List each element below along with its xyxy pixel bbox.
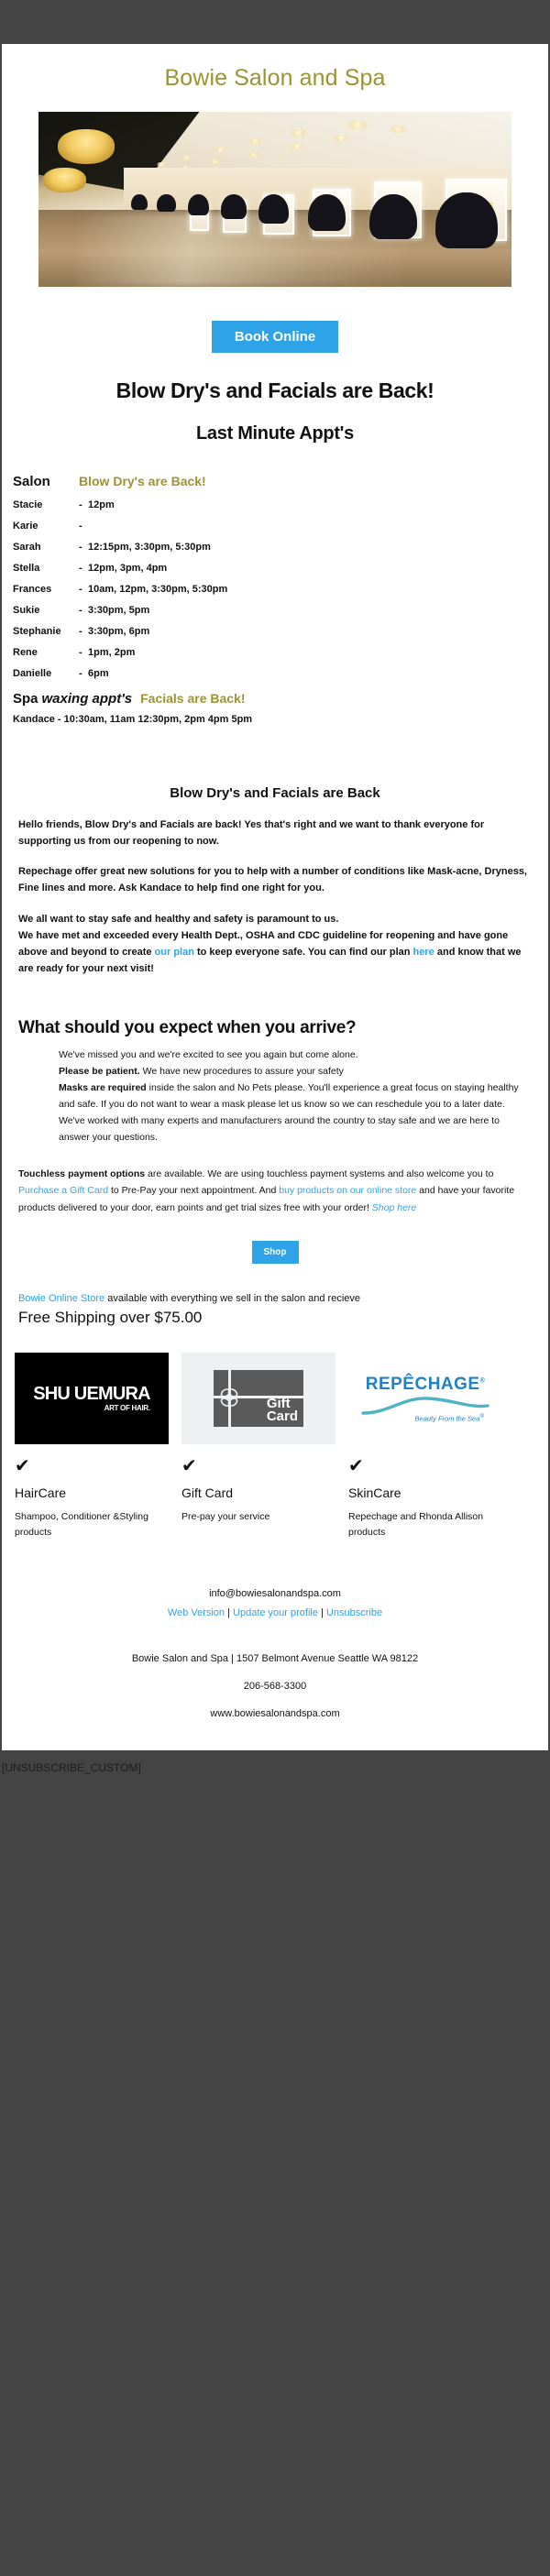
- table-row: Karie -: [13, 521, 532, 542]
- safety-line-3: to keep everyone safe. You can find our …: [194, 947, 413, 958]
- repechage-wordmark: REPÊCHAGE: [366, 1375, 480, 1394]
- page-title: Bowie Salon and Spa: [2, 44, 548, 112]
- masks-required-bold: Masks are required: [59, 1082, 147, 1093]
- hero-image-container: bowie bowie bowie bowie: [2, 112, 548, 287]
- gift-card-image: GiftCard: [181, 1353, 335, 1444]
- store-availability-line: Bowie Online Store available with everyt…: [2, 1291, 548, 1307]
- article-body: Hello friends, Blow Dry's and Facials ar…: [2, 817, 548, 991]
- stylist-name: Sukie: [13, 605, 79, 616]
- expect-body: We've missed you and we're excited to se…: [2, 1047, 548, 1145]
- salon-chair: [188, 194, 209, 215]
- safety-line-1: We all want to stay safe and healthy and…: [18, 914, 338, 925]
- stylist-times: 12:15pm, 3:30pm, 5:30pm: [88, 542, 532, 553]
- downlight-icon: [289, 129, 308, 137]
- downlight-icon: [289, 143, 305, 149]
- row-dash: -: [79, 499, 88, 510]
- shop-here-link[interactable]: Shop here: [372, 1202, 416, 1213]
- downlight-icon: [209, 159, 221, 164]
- checkmark-icon: ✔: [181, 1444, 335, 1475]
- stylist-name: Rene: [13, 647, 79, 658]
- unsubscribe-token: [UNSUBSCRIBE_CUSTOM]: [0, 1750, 550, 1819]
- table-row: Danielle - 6pm: [13, 668, 532, 689]
- salon-chair: [369, 194, 417, 240]
- article-title: Blow Dry's and Facials are Back: [2, 730, 548, 817]
- payment-text-1: are available. We are using touchless pa…: [145, 1168, 493, 1179]
- bowie-online-store-link[interactable]: Bowie Online Store: [18, 1293, 104, 1304]
- stylist-times: 3:30pm, 5pm: [88, 605, 532, 616]
- stylist-times: 12pm, 3pm, 4pm: [88, 563, 532, 574]
- be-patient-bold: Please be patient.: [59, 1066, 140, 1077]
- table-row: Stephanie - 3:30pm, 6pm: [13, 626, 532, 647]
- downlight-icon: [181, 156, 192, 160]
- downlight-icon: [389, 126, 408, 133]
- expect-line-3: Masks are required inside the salon and …: [59, 1080, 528, 1113]
- stylist-times: 10am, 12pm, 3:30pm, 5:30pm: [88, 584, 532, 595]
- online-store-link[interactable]: buy products on our online store: [279, 1185, 416, 1196]
- card-haircare[interactable]: SHU UEMURA ART OF HAIR. ✔ HairCare Shamp…: [15, 1353, 169, 1540]
- table-row: Stella - 12pm, 3pm, 4pm: [13, 563, 532, 584]
- spa-waxing-label: waxing appt's: [38, 691, 133, 707]
- card-title: HairCare: [15, 1475, 169, 1500]
- spa-label: Spa: [13, 691, 38, 707]
- payment-text-2: to Pre-Pay your next appointment. And: [108, 1185, 279, 1196]
- shop-button[interactable]: Shop: [252, 1241, 299, 1264]
- be-patient-rest: We have new procedures to assure your sa…: [140, 1066, 344, 1077]
- link-separator: |: [318, 1607, 326, 1618]
- stylist-times: 1pm, 2pm: [88, 647, 532, 658]
- card-description: Pre-pay your service: [181, 1500, 335, 1525]
- shu-uemura-logo: SHU UEMURA ART OF HAIR.: [15, 1353, 169, 1444]
- article-paragraph-1: Hello friends, Blow Dry's and Facials ar…: [18, 817, 532, 863]
- card-description: Repechage and Rhonda Allison products: [348, 1500, 502, 1540]
- salon-chair: [435, 192, 497, 248]
- blow-dry-accent-label: Blow Dry's are Back!: [79, 474, 206, 488]
- stylist-times: 12pm: [88, 499, 532, 510]
- stylist-times: 6pm: [88, 668, 532, 679]
- table-row: Frances - 10am, 12pm, 3:30pm, 5:30pm: [13, 584, 532, 605]
- book-online-button[interactable]: Book Online: [212, 321, 338, 353]
- row-dash: -: [79, 605, 88, 616]
- purchase-gift-card-link[interactable]: Purchase a Gift Card: [18, 1185, 108, 1196]
- salon-chair: [131, 194, 148, 210]
- web-version-link[interactable]: Web Version: [168, 1607, 225, 1618]
- stylist-name: Frances: [13, 584, 79, 595]
- headline-main: Blow Dry's and Facials are Back!: [2, 362, 548, 403]
- repechage-name: REPÊCHAGE®: [361, 1375, 489, 1395]
- stylist-name: Sarah: [13, 542, 79, 553]
- spa-appointment-row: Kandace - 10:30am, 11am 12:30pm, 2pm 4pm…: [13, 714, 532, 730]
- store-availability-text: available with everything we sell in the…: [104, 1293, 360, 1304]
- footer-links: Web Version | Update your profile | Unsu…: [2, 1607, 548, 1653]
- stylist-name: Danielle: [13, 668, 79, 679]
- expect-line-4: We've worked with many experts and manuf…: [59, 1113, 528, 1145]
- stylist-name: Karie: [13, 521, 79, 532]
- article-paragraph-2: Repechage offer great new solutions for …: [18, 863, 532, 910]
- here-link[interactable]: here: [413, 947, 434, 958]
- free-shipping-text: Free Shipping over $75.00: [2, 1306, 548, 1327]
- headline-sub: Last Minute Appt's: [2, 403, 548, 474]
- card-word: Card: [267, 1409, 298, 1424]
- shu-uemura-name: SHU UEMURA: [33, 1385, 150, 1403]
- salon-chair: [157, 194, 176, 212]
- gift-card-graphic: GiftCard: [214, 1370, 303, 1427]
- facials-accent-label: Facials are Back!: [132, 691, 245, 706]
- row-dash: -: [79, 626, 88, 637]
- row-dash: -: [79, 542, 88, 553]
- business-address: Bowie Salon and Spa | 1507 Belmont Avenu…: [2, 1653, 548, 1681]
- row-dash: -: [79, 563, 88, 574]
- repechage-tagline-text: Beauty From the Sea: [415, 1414, 480, 1422]
- payment-section: Touchless payment options are available.…: [2, 1145, 548, 1215]
- email-footer: info@bowiesalonandspa.com Web Version | …: [2, 1540, 548, 1750]
- shop-button-container: Shop: [2, 1216, 548, 1291]
- row-dash: -: [79, 521, 88, 532]
- gift-card-text: GiftCard: [267, 1398, 298, 1424]
- row-dash: -: [79, 647, 88, 658]
- schedule-header-row: Salon Blow Dry's are Back!: [13, 474, 532, 499]
- chandelier-icon: [43, 168, 85, 192]
- card-title: Gift Card: [181, 1475, 335, 1500]
- downlight-icon: [214, 147, 227, 152]
- row-dash: -: [79, 584, 88, 595]
- table-row: Sarah - 12:15pm, 3:30pm, 5:30pm: [13, 542, 532, 563]
- stylist-name: Stephanie: [13, 626, 79, 637]
- bow-icon: [217, 1387, 241, 1409]
- table-row: Stacie - 12pm: [13, 499, 532, 521]
- business-phone: 206-568-3300: [2, 1681, 548, 1708]
- contact-email: info@bowiesalonandspa.com: [2, 1588, 548, 1607]
- downlight-icon: [247, 152, 260, 158]
- stylist-times: 3:30pm, 6pm: [88, 626, 532, 637]
- downlight-icon: [157, 162, 167, 166]
- expect-heading: What should you expect when you arrive?: [2, 991, 548, 1047]
- row-dash: -: [79, 668, 88, 679]
- book-online-container: Book Online: [2, 287, 548, 362]
- link-separator: |: [225, 1607, 233, 1618]
- touchless-bold: Touchless payment options: [18, 1168, 145, 1179]
- product-cards: SHU UEMURA ART OF HAIR. ✔ HairCare Shamp…: [2, 1327, 548, 1540]
- email-body: Bowie Salon and Spa: [2, 44, 548, 1750]
- card-title: SkinCare: [348, 1475, 502, 1500]
- chandelier-icon: [58, 129, 115, 164]
- salon-interior-image: bowie bowie bowie bowie: [38, 112, 511, 287]
- update-profile-link[interactable]: Update your profile: [233, 1607, 318, 1618]
- repechage-logo: REPÊCHAGE® Beauty From the Sea®: [348, 1353, 502, 1444]
- appointment-schedule: Salon Blow Dry's are Back! Stacie - 12pm…: [2, 474, 548, 730]
- unsubscribe-link[interactable]: Unsubscribe: [326, 1607, 382, 1618]
- article-paragraph-3: We all want to stay safe and healthy and…: [18, 911, 532, 992]
- spa-header-row: Spa waxing appt's Facials are Back!: [13, 689, 532, 714]
- expect-line-1: We've missed you and we're excited to se…: [59, 1047, 528, 1063]
- checkmark-icon: ✔: [348, 1444, 502, 1475]
- salon-chair: [221, 194, 247, 219]
- salon-label: Salon: [13, 474, 79, 489]
- stylist-name: Stacie: [13, 499, 79, 510]
- email-viewport: Bowie Salon and Spa: [0, 0, 550, 1819]
- payment-paragraph: Touchless payment options are available.…: [18, 1166, 532, 1215]
- expect-line-2: Please be patient. We have new procedure…: [59, 1063, 528, 1080]
- our-plan-link[interactable]: our plan: [155, 947, 194, 958]
- checkmark-icon: ✔: [15, 1444, 169, 1475]
- table-row: Sukie - 3:30pm, 5pm: [13, 605, 532, 626]
- table-row: Rene - 1pm, 2pm: [13, 647, 532, 668]
- shu-uemura-tagline: ART OF HAIR.: [33, 1403, 150, 1412]
- repechage-tagline: Beauty From the Sea®: [361, 1413, 489, 1423]
- business-website: www.bowiesalonandspa.com: [2, 1708, 548, 1750]
- stylist-name: Stella: [13, 563, 79, 574]
- card-gift-card[interactable]: GiftCard ✔ Gift Card Pre-pay your servic…: [181, 1353, 335, 1540]
- downlight-icon: [346, 121, 369, 130]
- card-description: Shampoo, Conditioner &Styling products: [15, 1500, 169, 1540]
- card-skincare[interactable]: REPÊCHAGE® Beauty From the Sea® ✔ SkinCa…: [348, 1353, 502, 1540]
